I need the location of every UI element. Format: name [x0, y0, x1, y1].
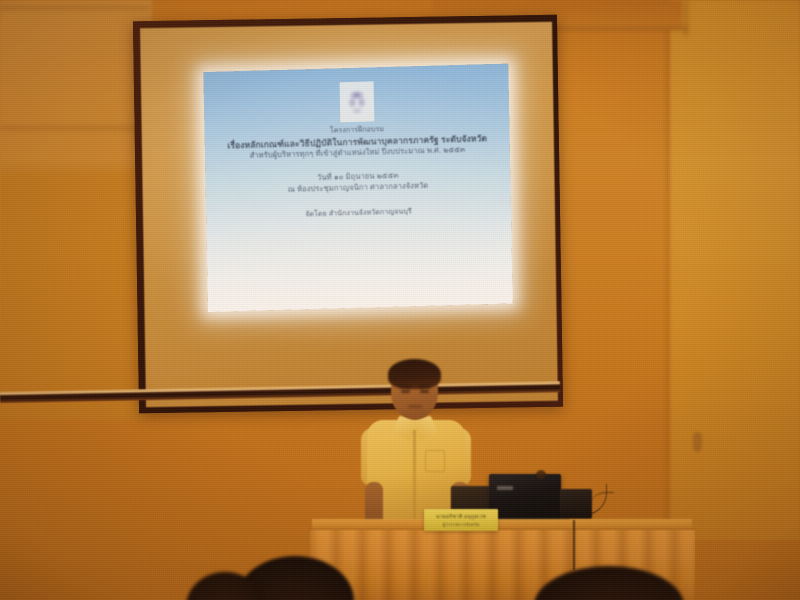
presenter-eye-right [420, 390, 429, 393]
nameplate-title: ผู้ว่าราชการจังหวัด [424, 521, 498, 528]
garuda-emblem-icon [339, 81, 374, 122]
presenter-brow-right [419, 385, 431, 388]
left-wall-band [0, 126, 150, 132]
hanging-cable [573, 520, 575, 570]
conference-room-photo: โครงการฝึกอบรม เรื่องหลักเกณฑ์และวิธีปฏิ… [0, 0, 800, 600]
soffit-vertical-edge [684, 0, 690, 36]
projection-screen: โครงการฝึกอบรม เรื่องหลักเกณฑ์และวิธีปฏิ… [133, 15, 563, 414]
laptop-logo [497, 486, 513, 490]
projected-slide: โครงการฝึกอบรม เรื่องหลักเกณฑ์และวิธีปฏิ… [203, 64, 512, 312]
presenter-mouth [408, 405, 422, 408]
ceiling-trim [0, 6, 150, 11]
emblem-mark [344, 88, 369, 117]
presenter-hair [388, 359, 441, 389]
soffit-shadow [556, 27, 688, 32]
microphone-base [536, 470, 546, 479]
door-handle-icon [693, 432, 702, 452]
left-wall-panel [0, 0, 152, 420]
right-wall-column [670, 0, 800, 540]
slide-text-block: โครงการฝึกอบรม เรื่องหลักเกณฑ์และวิธีปฏิ… [204, 122, 511, 224]
nameplate-name: นายอภิชาติ อนุกูลเวช [424, 513, 498, 521]
presenter-brow-left [399, 385, 411, 388]
presenter-eye-left [401, 390, 410, 393]
nameplate: นายอภิชาติ อนุกูลเวช ผู้ว่าราชการจังหวัด [424, 509, 498, 531]
shirt-placket [413, 430, 416, 522]
shirt-pocket [425, 450, 445, 472]
wall-corner-edge [666, 0, 671, 545]
laptop-computer [489, 474, 561, 522]
